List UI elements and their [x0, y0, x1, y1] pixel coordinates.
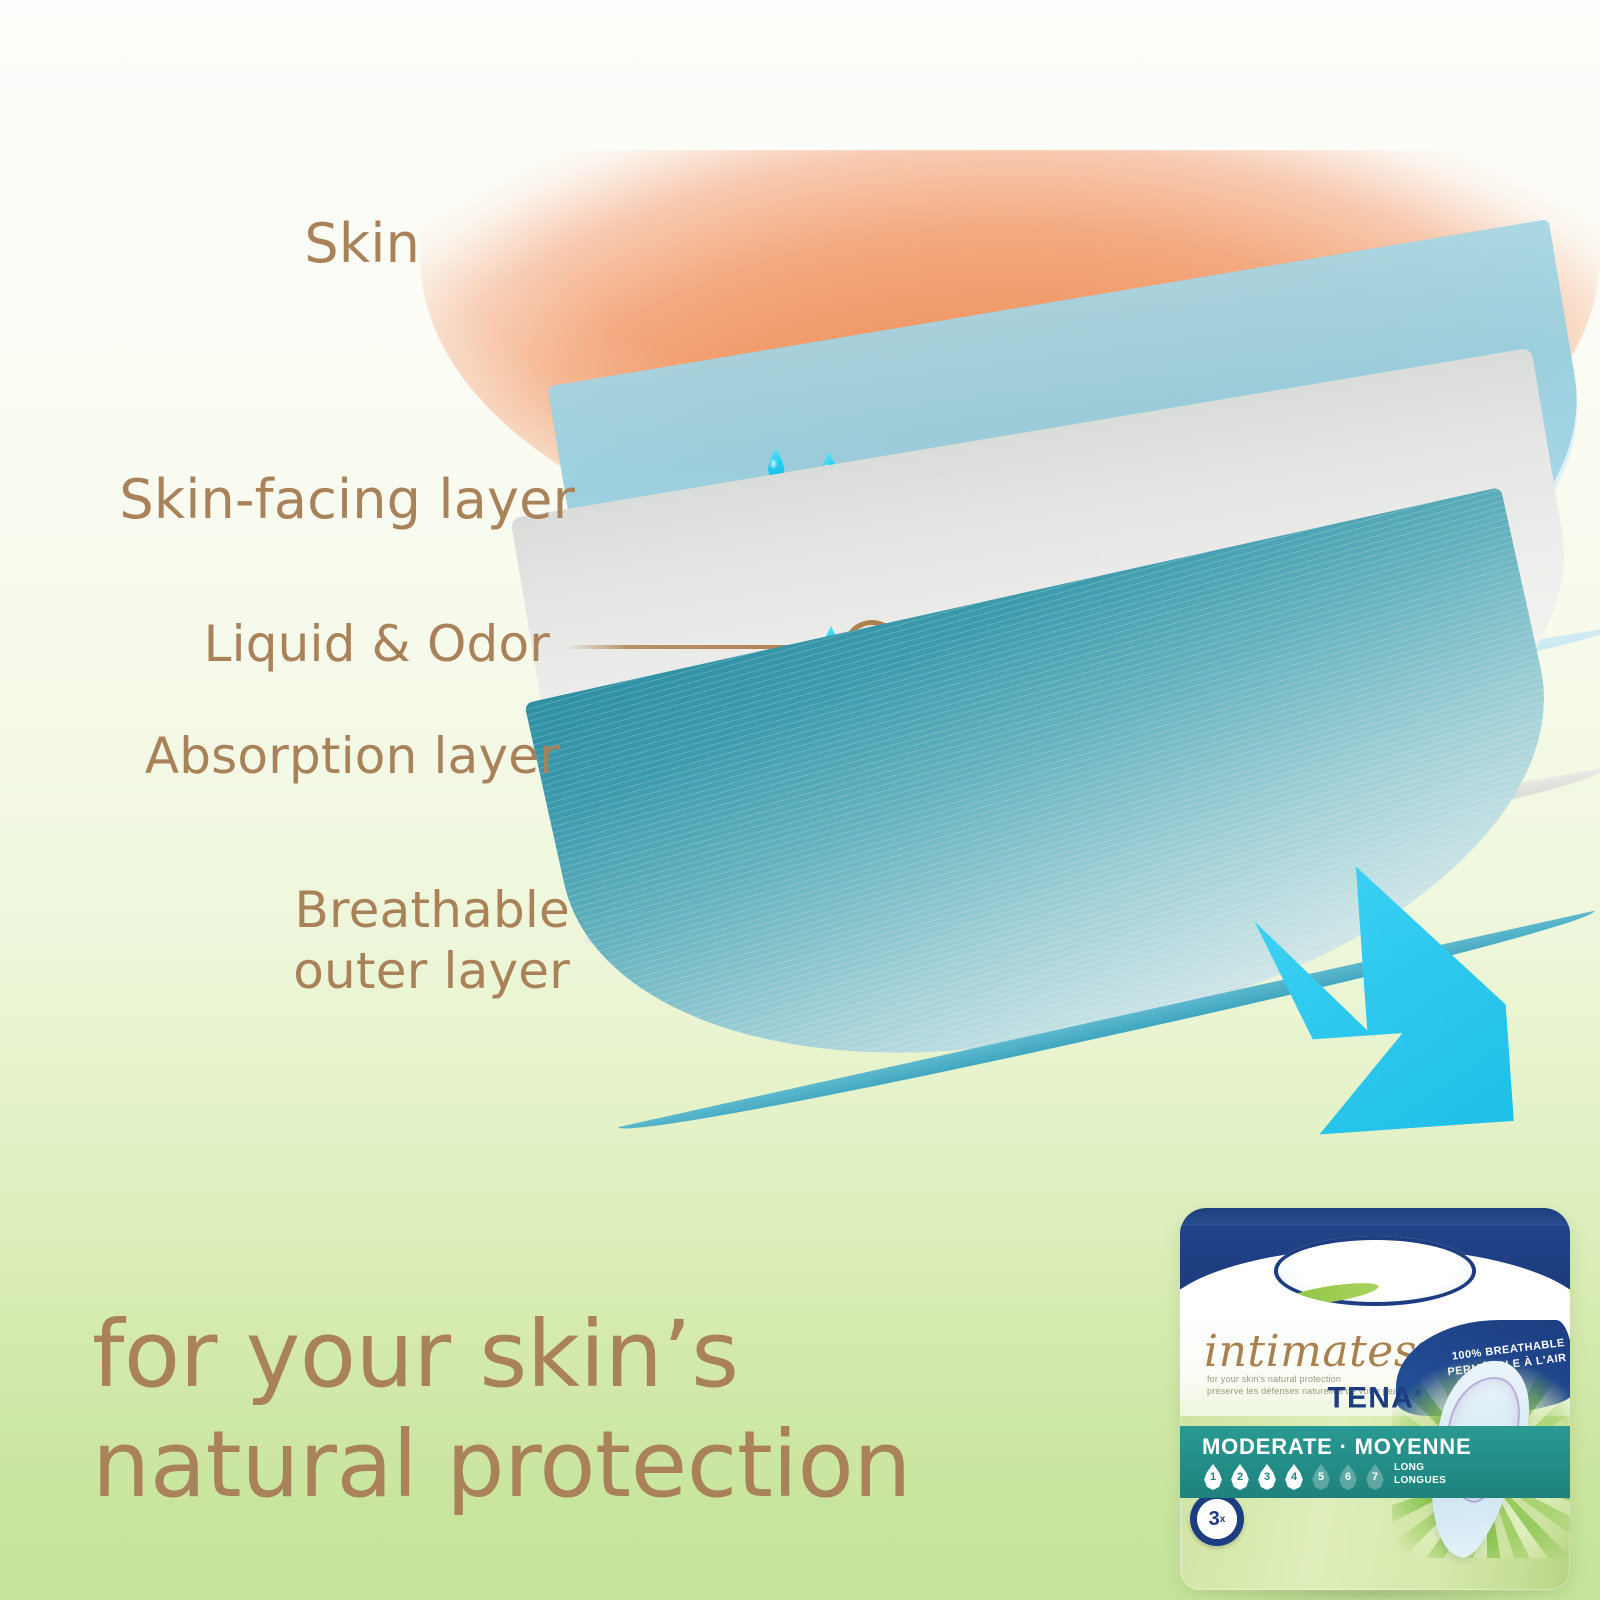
- package-size-fr: LONGUES: [1394, 1475, 1446, 1486]
- tena-logo-wordmark: TENA: [1327, 1381, 1413, 1414]
- package-size-en: LONG: [1394, 1462, 1425, 1473]
- product-package: TENA® intimates® for your skin's natural…: [1180, 1208, 1570, 1590]
- label-breathable-outer-layer: Breathable outer layer: [0, 880, 570, 1002]
- label-skin-facing-layer: Skin-facing layer: [0, 470, 575, 530]
- intimates-wordmark: intimates: [1204, 1326, 1417, 1377]
- absorbency-drop: 5: [1310, 1464, 1332, 1490]
- label-skin: Skin: [150, 214, 420, 274]
- absorbency-drop: 2: [1229, 1464, 1251, 1490]
- label-absorption-layer: Absorption layer: [0, 728, 560, 784]
- triple-protection-badge: 3x: [1190, 1492, 1244, 1546]
- package-body: TENA® intimates® for your skin's natural…: [1180, 1208, 1570, 1590]
- tena-logo-text: TENA®: [1180, 1381, 1570, 1415]
- package-size-text: LONGLONGUES: [1394, 1462, 1446, 1487]
- tena-logo-lens: [1274, 1236, 1477, 1306]
- absorbency-scale: 1 2 3 4 5 6 7: [1202, 1464, 1386, 1490]
- tena-logo-green-swoosh: [1281, 1278, 1380, 1306]
- label-liquid-and-odor: Liquid & Odor: [0, 616, 550, 672]
- page-headline: for your skin’s natural protection: [92, 1300, 1122, 1521]
- absorbency-drop: 6: [1337, 1464, 1359, 1490]
- tena-logo-trademark: ®: [1414, 1388, 1423, 1399]
- absorbency-drop: 1: [1202, 1464, 1224, 1490]
- triple-protection-number: 3: [1209, 1508, 1220, 1531]
- absorbency-drop: 3: [1256, 1464, 1278, 1490]
- infographic-canvas: Skin Skin-facing layer Liquid & Odor Abs…: [0, 0, 1600, 1600]
- absorbency-level-text: MODERATE · MOYENNE: [1202, 1434, 1471, 1460]
- absorbency-drop: 4: [1283, 1464, 1305, 1490]
- triple-protection-badge-value: 3x: [1190, 1492, 1244, 1546]
- absorbency-drop: 7: [1364, 1464, 1386, 1490]
- triple-protection-suffix: x: [1220, 1514, 1226, 1525]
